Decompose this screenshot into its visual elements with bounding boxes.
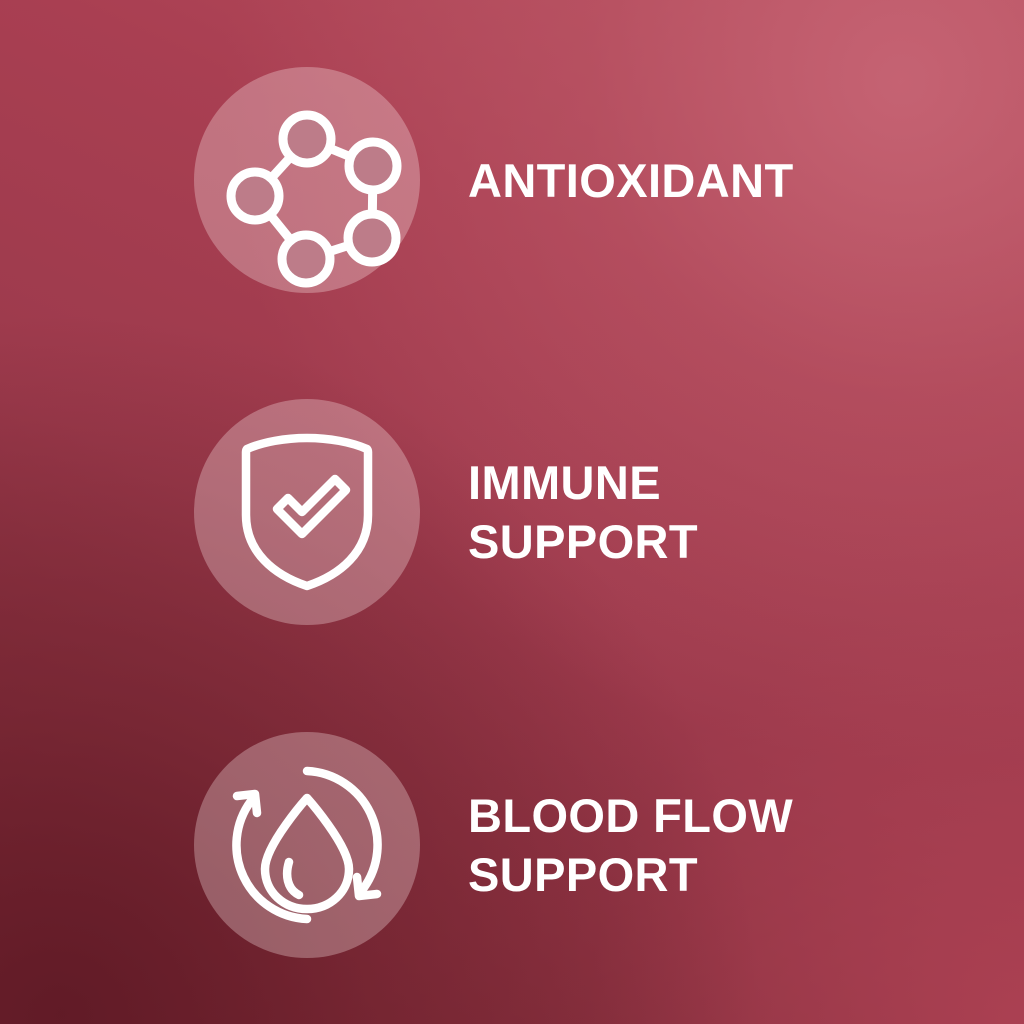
- molecule-network-icon: [227, 95, 387, 265]
- icon-badge-antioxidant: [194, 67, 420, 293]
- blood-drop-circulation-icon: [225, 763, 389, 927]
- icon-badge-blood-flow-support: [194, 732, 420, 958]
- feature-list: ANTIOXIDANT IMMUNE SUPPORT: [0, 0, 1024, 1024]
- feature-row: ANTIOXIDANT: [0, 50, 1024, 310]
- shield-check-icon: [241, 433, 373, 591]
- feature-label-immune-support: IMMUNE SUPPORT: [468, 453, 698, 571]
- feature-label-antioxidant: ANTIOXIDANT: [468, 151, 794, 210]
- feature-label-blood-flow-support: BLOOD FLOW SUPPORT: [468, 786, 793, 904]
- feature-row: BLOOD FLOW SUPPORT: [0, 715, 1024, 975]
- benefits-graphic: ANTIOXIDANT IMMUNE SUPPORT: [0, 0, 1024, 1024]
- feature-row: IMMUNE SUPPORT: [0, 382, 1024, 642]
- icon-badge-immune-support: [194, 399, 420, 625]
